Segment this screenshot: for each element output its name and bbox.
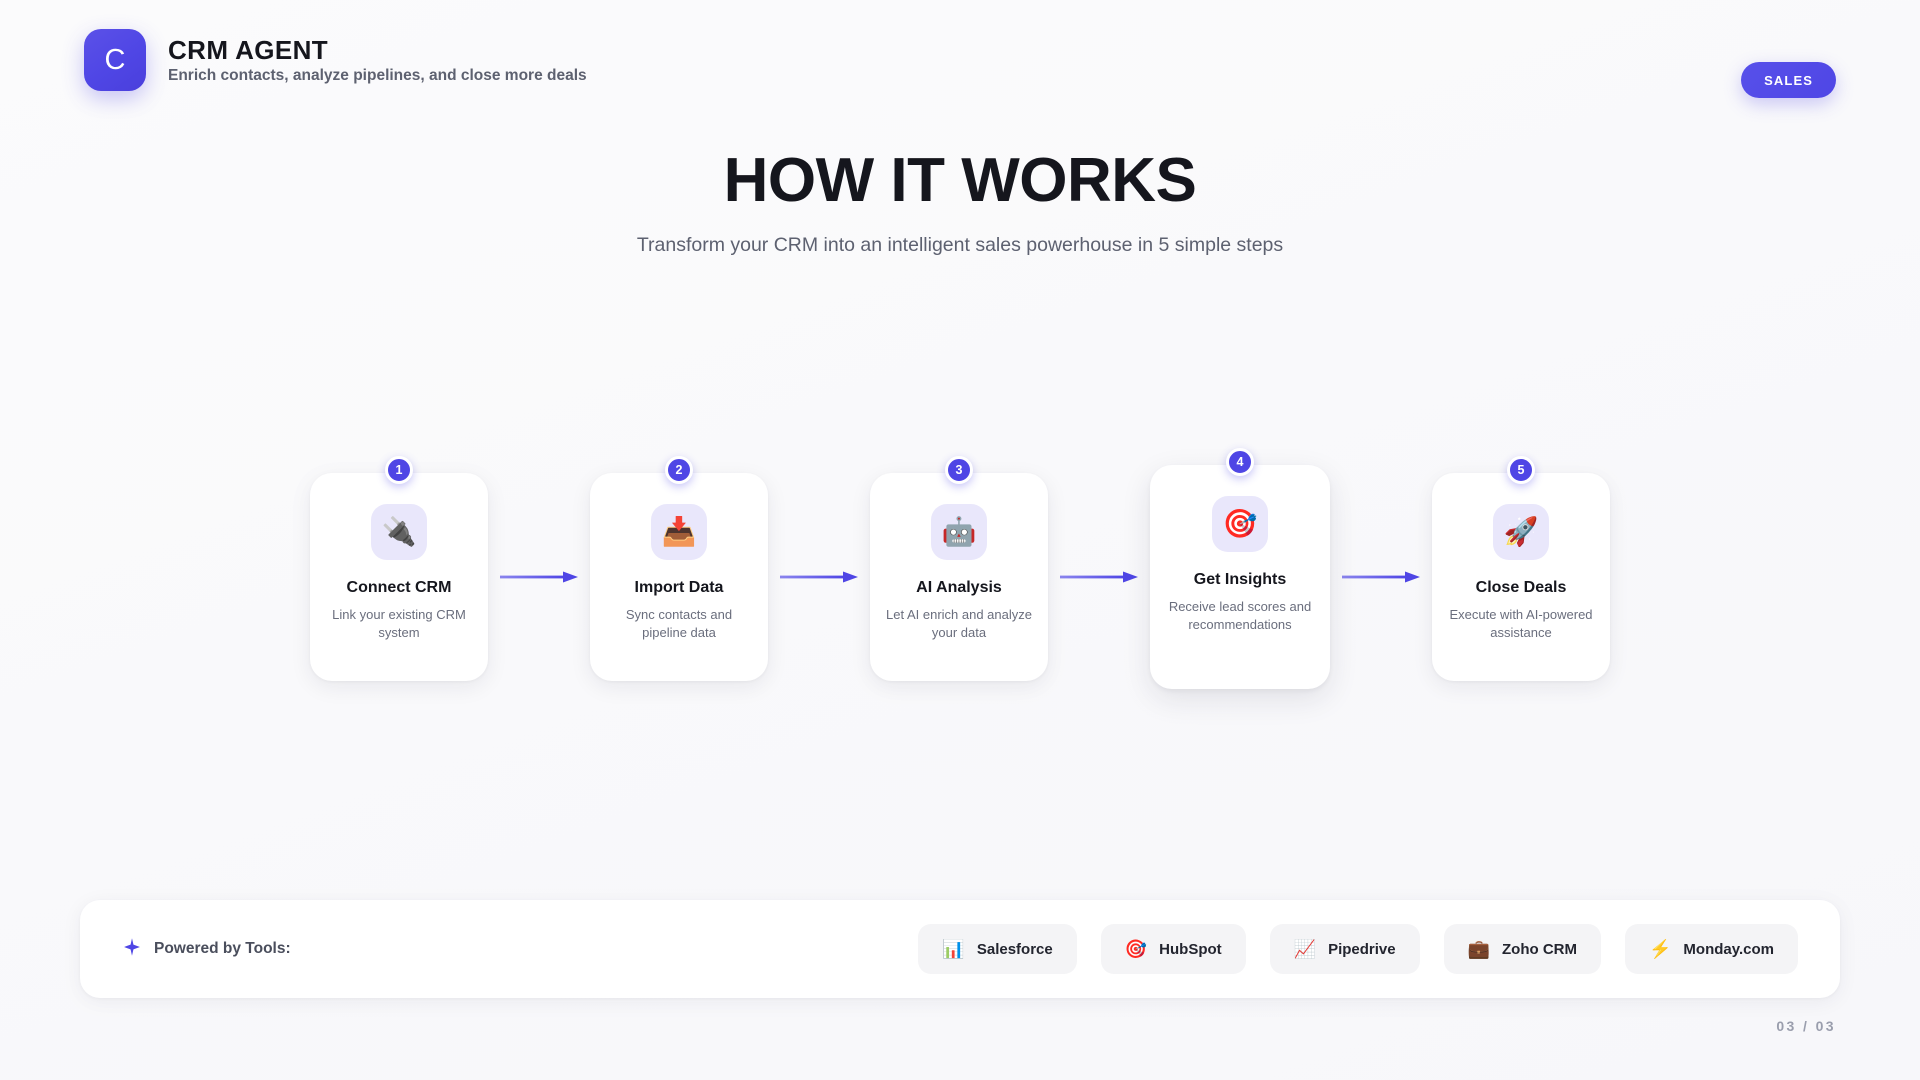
tool-chip-label: Zoho CRM: [1502, 941, 1577, 958]
rocket-icon: 🚀: [1493, 504, 1549, 560]
tool-chip-salesforce[interactable]: 📊Salesforce: [918, 924, 1076, 974]
step-description: Link your existing CRM system: [310, 606, 488, 642]
step-card-1[interactable]: 1🔌Connect CRMLink your existing CRM syst…: [310, 473, 488, 681]
step-connector-arrow: [488, 571, 590, 583]
brand: C CRM AGENT Enrich contacts, analyze pip…: [84, 29, 587, 91]
bar-chart-icon: 📊: [942, 940, 964, 958]
briefcase-icon: 💼: [1468, 940, 1490, 958]
tool-chip-hubspot[interactable]: 🎯HubSpot: [1101, 924, 1246, 974]
tool-chip-label: HubSpot: [1159, 941, 1221, 958]
lightning-bolt-icon: ⚡: [1649, 940, 1671, 958]
page-header: C CRM AGENT Enrich contacts, analyze pip…: [0, 0, 1920, 120]
step-number-badge: 5: [1507, 456, 1535, 484]
page-indicator: 03 / 03: [1776, 1018, 1836, 1034]
page-title: HOW IT WORKS: [0, 148, 1920, 213]
sales-badge[interactable]: SALES: [1741, 62, 1836, 98]
step-connector-arrow: [1330, 571, 1432, 583]
tool-chip-label: Pipedrive: [1328, 941, 1396, 958]
steps-row: 1🔌Connect CRMLink your existing CRM syst…: [0, 452, 1920, 702]
step-description: Let AI enrich and analyze your data: [870, 606, 1048, 642]
step-card-5[interactable]: 5🚀Close DealsExecute with AI-powered ass…: [1432, 473, 1610, 681]
brand-text: CRM AGENT Enrich contacts, analyze pipel…: [168, 37, 587, 84]
app-logo: C: [84, 29, 146, 91]
tools-label: Powered by Tools:: [154, 940, 291, 958]
step-title: AI Analysis: [916, 579, 1002, 597]
tool-chip-label: Salesforce: [977, 941, 1053, 958]
app-title: CRM AGENT: [168, 37, 587, 63]
electric-plug-icon: 🔌: [371, 504, 427, 560]
dart-target-icon: 🎯: [1212, 496, 1268, 552]
tool-chip-label: Monday.com: [1683, 941, 1774, 958]
tools-label-group: Powered by Tools:: [122, 937, 291, 962]
step-connector-arrow: [1048, 571, 1150, 583]
step-description: Sync contacts and pipeline data: [590, 606, 768, 642]
dart-target-icon: 🎯: [1125, 940, 1147, 958]
tool-chip-monday-com[interactable]: ⚡Monday.com: [1625, 924, 1798, 974]
tool-chip-list: 📊Salesforce🎯HubSpot📈Pipedrive💼Zoho CRM⚡M…: [918, 924, 1798, 974]
tool-chip-pipedrive[interactable]: 📈Pipedrive: [1270, 924, 1420, 974]
chart-increasing-icon: 📈: [1294, 940, 1316, 958]
tool-chip-zoho-crm[interactable]: 💼Zoho CRM: [1444, 924, 1601, 974]
step-card-4[interactable]: 4🎯Get InsightsReceive lead scores and re…: [1150, 465, 1330, 689]
page-subtitle: Transform your CRM into an intelligent s…: [0, 234, 1920, 257]
step-description: Execute with AI-powered assistance: [1432, 606, 1610, 642]
robot-icon: 🤖: [931, 504, 987, 560]
step-number-badge: 1: [385, 456, 413, 484]
hero-block: HOW IT WORKS Transform your CRM into an …: [0, 148, 1920, 257]
inbox-tray-icon: 📥: [651, 504, 707, 560]
logo-letter: C: [105, 44, 126, 77]
step-title: Get Insights: [1194, 571, 1286, 589]
app-subtitle: Enrich contacts, analyze pipelines, and …: [168, 68, 587, 84]
step-title: Connect CRM: [347, 579, 452, 597]
step-connector-arrow: [768, 571, 870, 583]
step-card-3[interactable]: 3🤖AI AnalysisLet AI enrich and analyze y…: [870, 473, 1048, 681]
step-title: Import Data: [635, 579, 724, 597]
step-title: Close Deals: [1476, 579, 1567, 597]
step-card-2[interactable]: 2📥Import DataSync contacts and pipeline …: [590, 473, 768, 681]
step-description: Receive lead scores and recommendations: [1150, 598, 1330, 634]
step-number-badge: 2: [665, 456, 693, 484]
sparkle-icon: [122, 937, 142, 962]
step-number-badge: 3: [945, 456, 973, 484]
step-number-badge: 4: [1226, 448, 1254, 476]
powered-by-tools-bar: Powered by Tools: 📊Salesforce🎯HubSpot📈Pi…: [80, 900, 1840, 998]
